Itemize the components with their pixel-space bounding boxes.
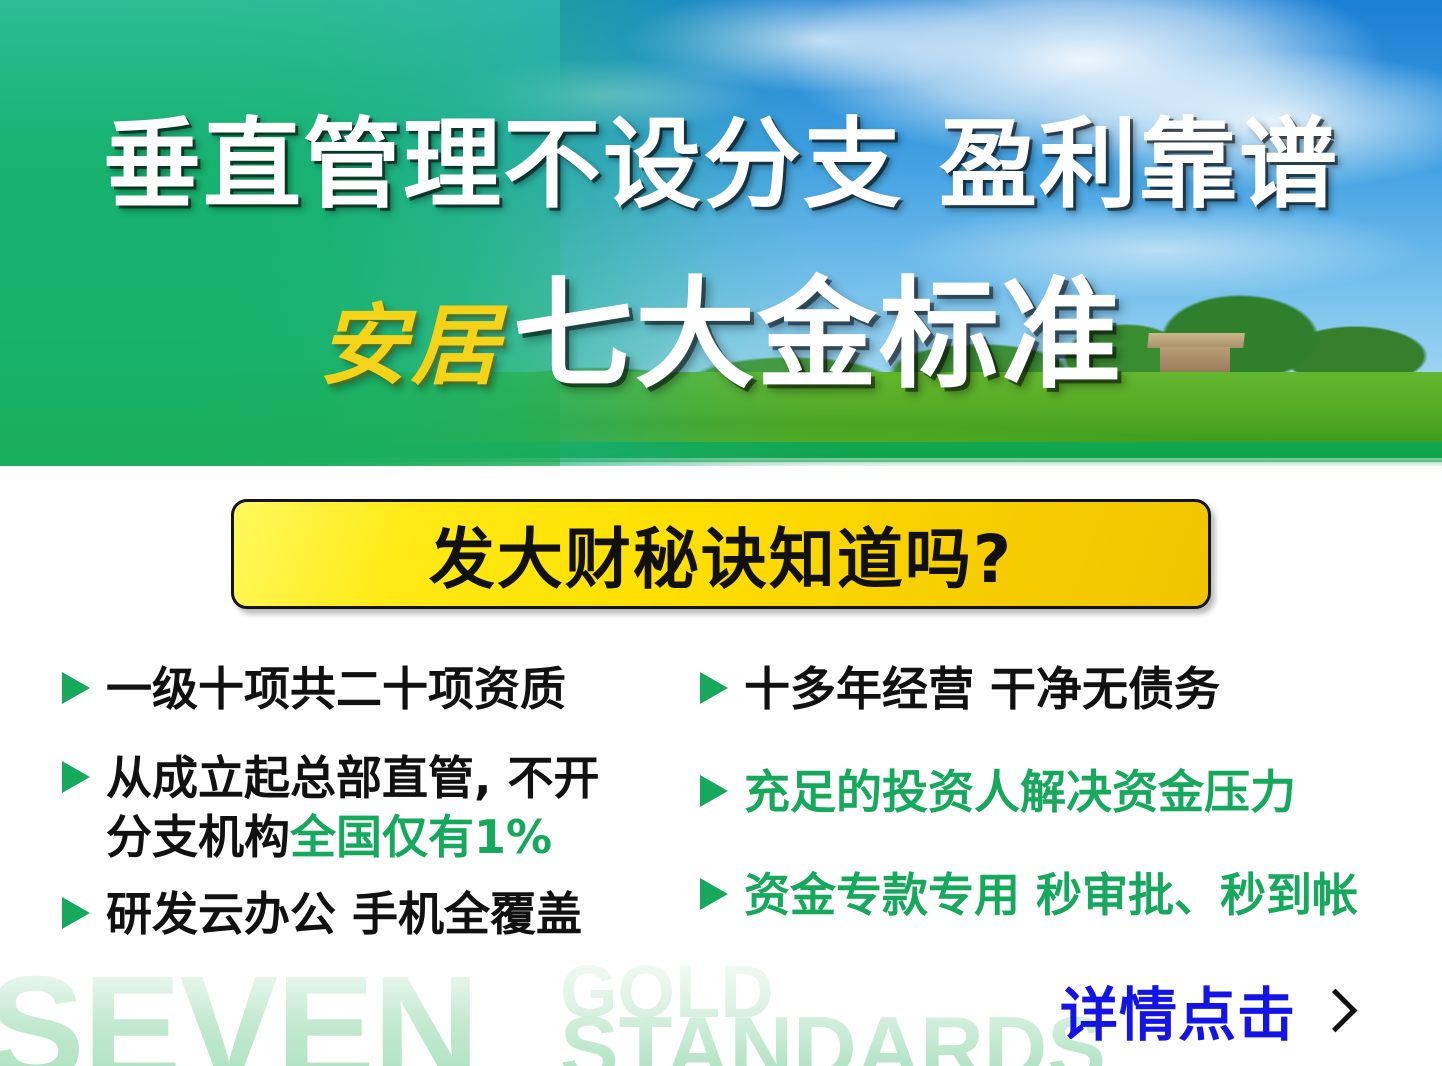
feature-text-part: 研发云办公 手机全覆盖: [106, 887, 582, 941]
triangle-bullet-icon: [700, 672, 728, 704]
feature-text-highlight: 全国仅有1%: [290, 810, 552, 864]
feature-text-part: 从成立起总部直管, 不开: [106, 751, 600, 805]
feature-text: 研发云办公 手机全覆盖: [106, 885, 582, 944]
chevron-right-icon: [1314, 988, 1358, 1032]
feature-text: 充足的投资人解决资金压力: [744, 763, 1296, 822]
headline-primary: 垂直管理不设分支 盈利靠谱: [0, 116, 1442, 214]
watermark-standards: STANDARDS: [560, 1004, 1106, 1066]
headline-group: 垂直管理不设分支 盈利靠谱 安居七大金标准: [0, 0, 1442, 466]
triangle-bullet-icon: [700, 775, 728, 807]
feature-text-part: 充足的投资人解决资金压力: [744, 765, 1296, 819]
feature-text-part: 十多年经营 干净无债务: [744, 662, 1220, 716]
hero-section: 垂直管理不设分支 盈利靠谱 安居七大金标准: [0, 0, 1442, 466]
triangle-bullet-icon: [700, 878, 728, 910]
triangle-bullet-icon: [62, 897, 90, 929]
feature-item: 研发云办公 手机全覆盖: [62, 885, 682, 944]
feature-text: 资金专款专用 秒审批、秒到帐: [744, 866, 1358, 925]
headline-secondary-main: 七大金标准: [513, 276, 1123, 396]
details-cta-label: 详情点击: [1060, 968, 1296, 1052]
headline-secondary: 安居七大金标准: [0, 276, 1442, 396]
feature-item: 充足的投资人解决资金压力: [700, 763, 1400, 822]
feature-text: 从成立起总部直管, 不开 分支机构全国仅有1%: [106, 749, 600, 867]
triangle-bullet-icon: [62, 761, 90, 793]
triangle-bullet-icon: [62, 672, 90, 704]
question-banner[interactable]: 发大财秘诀知道吗?: [231, 499, 1211, 609]
features-section: 一级十项共二十项资质 从成立起总部直管, 不开 分支机构全国仅有1% 研发云办公…: [0, 660, 1442, 1000]
question-banner-text: 发大财秘诀知道吗?: [429, 506, 1013, 602]
headline-brand-accent: 安居: [319, 302, 503, 390]
feature-text: 十多年经营 干净无债务: [744, 660, 1220, 719]
feature-text-part: 一级十项共二十项资质: [106, 662, 566, 716]
feature-column-right: 十多年经营 干净无债务 充足的投资人解决资金压力 资金专款专用 秒审批、秒到帐: [700, 660, 1400, 969]
feature-item: 资金专款专用 秒审批、秒到帐: [700, 866, 1400, 925]
promo-banner: 垂直管理不设分支 盈利靠谱 安居七大金标准 发大财秘诀知道吗? SEVEN GO…: [0, 0, 1442, 1066]
feature-text-part: 分支机构: [106, 810, 290, 864]
feature-item: 一级十项共二十项资质: [62, 660, 682, 719]
feature-text: 一级十项共二十项资质: [106, 660, 566, 719]
feature-item: 十多年经营 干净无债务: [700, 660, 1400, 719]
feature-text-part: 资金专款专用 秒审批、秒到帐: [744, 868, 1358, 922]
feature-column-left: 一级十项共二十项资质 从成立起总部直管, 不开 分支机构全国仅有1% 研发云办公…: [62, 660, 682, 968]
details-cta-link[interactable]: 详情点击: [1060, 968, 1351, 1052]
feature-item: 从成立起总部直管, 不开 分支机构全国仅有1%: [62, 749, 682, 867]
